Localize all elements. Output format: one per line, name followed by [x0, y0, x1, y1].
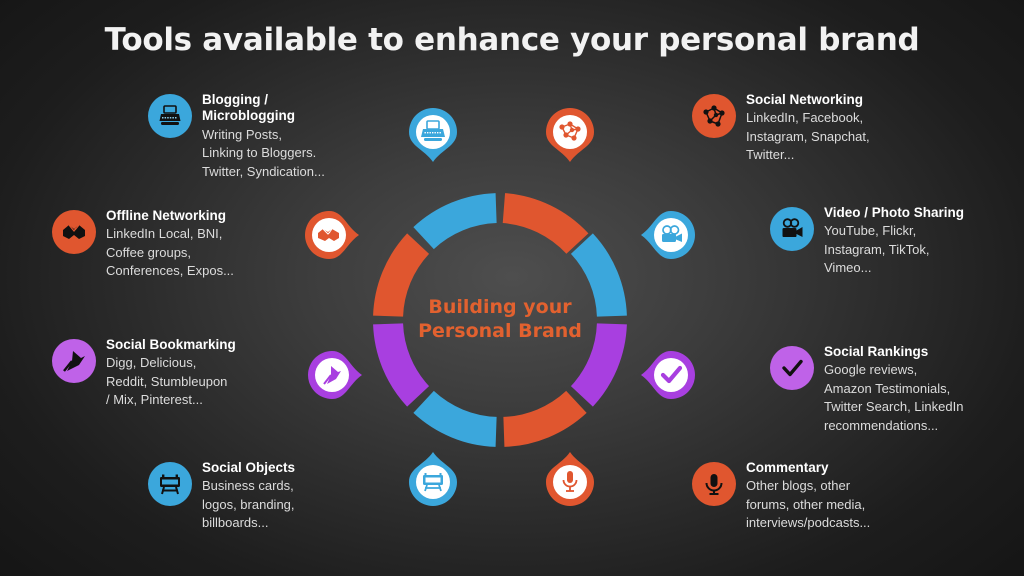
info-social-bookmarking: Social Bookmarking Digg, Delicious, Redd…	[52, 337, 282, 410]
microphone-icon	[702, 472, 726, 496]
typewriter-icon	[158, 104, 182, 128]
movie-camera-icon	[780, 217, 804, 241]
badge-social-bookmarking	[52, 339, 96, 383]
badge-social-objects	[148, 462, 192, 506]
infographic-canvas: Tools available to enhance your personal…	[0, 0, 1024, 576]
info-title-offline-networking: Offline Networking	[106, 208, 234, 224]
badge-video-photo-sharing	[770, 207, 814, 251]
badge-blogging	[148, 94, 192, 138]
pin-social-objects[interactable]	[406, 452, 460, 506]
badge-offline-networking	[52, 210, 96, 254]
info-title-social-rankings: Social Rankings	[824, 344, 963, 360]
info-title-blogging: Blogging / Microblogging	[202, 92, 363, 125]
pin-social-networking[interactable]	[543, 108, 597, 162]
info-title-social-bookmarking: Social Bookmarking	[106, 337, 236, 353]
badge-social-networking	[692, 94, 736, 138]
ring-segment-3	[504, 402, 577, 432]
ring-segment-1	[582, 244, 612, 317]
info-title-video-photo-sharing: Video / Photo Sharing	[824, 205, 964, 221]
billboard-icon	[423, 473, 443, 491]
info-desc-social-bookmarking: Digg, Delicious, Reddit, Stumbleupon / M…	[106, 354, 236, 409]
info-social-rankings: Social Rankings Google reviews, Amazon T…	[770, 344, 1000, 435]
info-desc-blogging: Writing Posts, Linking to Bloggers. Twit…	[202, 126, 363, 181]
pin-social-bookmarking[interactable]	[308, 348, 362, 402]
info-video-photo-sharing: Video / Photo Sharing YouTube, Flickr, I…	[770, 205, 995, 278]
info-desc-social-networking: LinkedIn, Facebook, Instagram, Snapchat,…	[746, 109, 870, 164]
ring-segment-6	[388, 244, 418, 317]
info-social-objects: Social Objects Business cards, logos, br…	[148, 460, 363, 533]
pin-commentary[interactable]	[543, 452, 597, 506]
info-commentary: Commentary Other blogs, other forums, ot…	[692, 460, 922, 533]
ring-segment-5	[388, 324, 418, 397]
checkmark-icon	[780, 356, 804, 380]
info-desc-social-rankings: Google reviews, Amazon Testimonials, Twi…	[824, 361, 963, 435]
pin-blogging[interactable]	[406, 108, 460, 162]
info-offline-networking: Offline Networking LinkedIn Local, BNI, …	[52, 208, 277, 281]
ring-segment-2	[582, 324, 612, 397]
info-social-networking: Social Networking LinkedIn, Facebook, In…	[692, 92, 917, 165]
info-blogging: Blogging / Microblogging Writing Posts, …	[148, 92, 363, 181]
handshake-icon	[62, 220, 86, 244]
ring-segment-7	[424, 208, 497, 238]
donut-ring: Building your Personal Brand	[350, 120, 650, 460]
pin-video-photo-sharing[interactable]	[641, 208, 695, 262]
info-title-commentary: Commentary	[746, 460, 870, 476]
ring-segments	[350, 170, 650, 470]
ring-segment-0	[504, 208, 578, 244]
billboard-icon	[158, 472, 182, 496]
info-desc-offline-networking: LinkedIn Local, BNI, Coffee groups, Conf…	[106, 225, 234, 280]
badge-commentary	[692, 462, 736, 506]
info-desc-social-objects: Business cards, logos, branding, billboa…	[202, 477, 295, 532]
pushpin-icon	[62, 349, 86, 373]
ring-segment-4	[424, 402, 497, 432]
info-desc-commentary: Other blogs, other forums, other media, …	[746, 477, 870, 532]
page-title: Tools available to enhance your personal…	[0, 22, 1024, 58]
info-title-social-networking: Social Networking	[746, 92, 870, 108]
pin-social-rankings[interactable]	[641, 348, 695, 402]
pin-offline-networking[interactable]	[305, 208, 359, 262]
badge-social-rankings	[770, 346, 814, 390]
info-title-social-objects: Social Objects	[202, 460, 295, 476]
network-icon	[702, 104, 726, 128]
info-desc-video-photo-sharing: YouTube, Flickr, Instagram, TikTok, Vime…	[824, 222, 964, 277]
